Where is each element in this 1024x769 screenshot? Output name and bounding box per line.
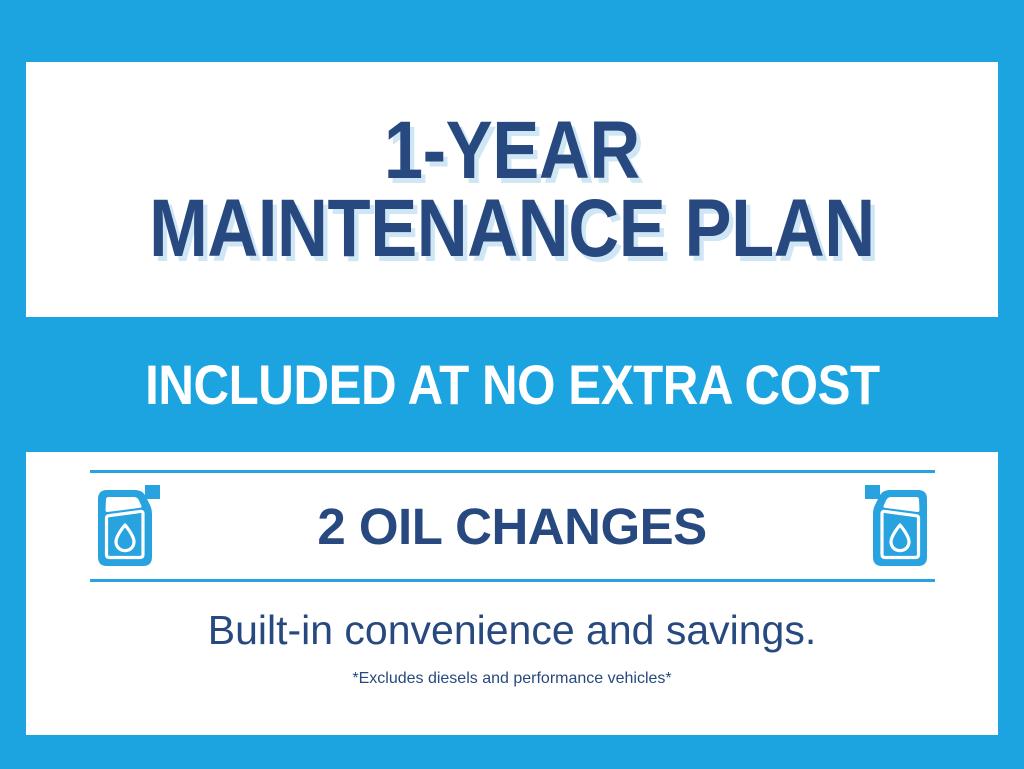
headline-line-2: MAINTENANCE PLAN (149, 190, 875, 267)
divider-bottom (90, 579, 935, 582)
subheading-text: INCLUDED AT NO EXTRA COST (145, 352, 880, 417)
oil-can-icon-left (90, 483, 162, 569)
headline-card: 1-YEAR MAINTENANCE PLAN (26, 62, 998, 317)
offer-title: 2 OIL CHANGES (317, 497, 706, 556)
subheading-band: INCLUDED AT NO EXTRA COST (0, 317, 1024, 452)
offer-row: 2 OIL CHANGES (90, 473, 935, 579)
disclaimer-text: *Excludes diesels and performance vehicl… (352, 670, 671, 688)
oil-can-icon-right (863, 483, 935, 569)
details-card: 2 OIL CHANGES Built-in convenience and s… (26, 452, 998, 735)
promo-poster: 1-YEAR MAINTENANCE PLAN INCLUDED AT NO E… (0, 0, 1024, 769)
tagline-text: Built-in convenience and savings. (208, 607, 817, 654)
headline-line-1: 1-YEAR (384, 112, 640, 189)
